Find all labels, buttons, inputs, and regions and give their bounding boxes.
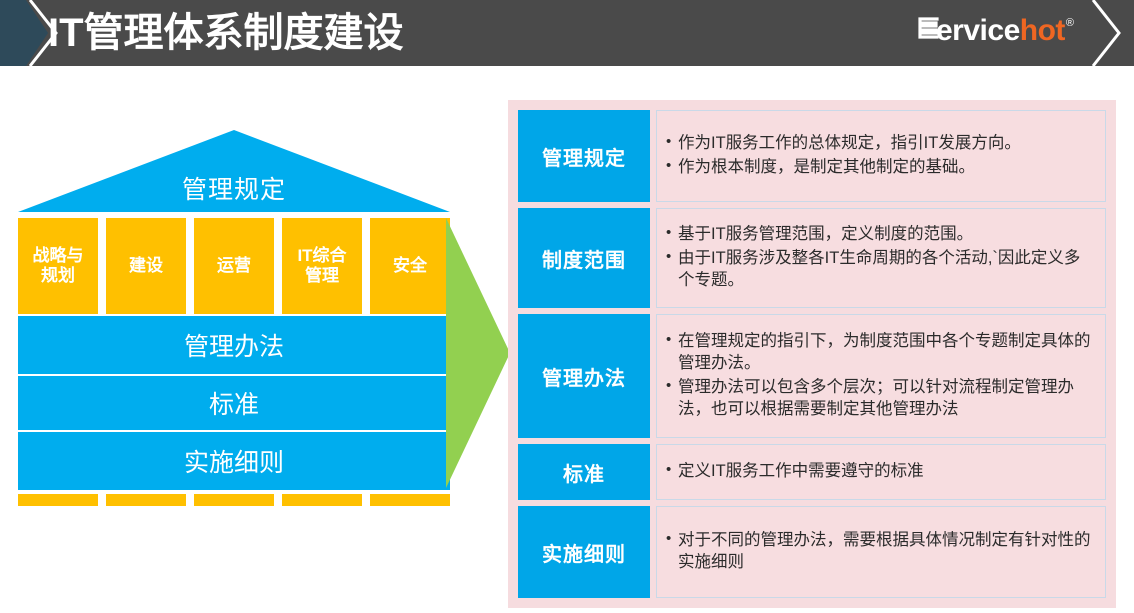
chevron-right-icon-trailing [1088, 0, 1124, 66]
house-pillar-construction[interactable]: 建设 [106, 218, 186, 314]
detail-row-label[interactable]: 管理办法 [518, 314, 650, 438]
table-row: 管理规定 作为IT服务工作的总体规定，指引IT发展方向。 作为根本制度，是制定其… [518, 110, 1106, 202]
detail-panel: 管理规定 作为IT服务工作的总体规定，指引IT发展方向。 作为根本制度，是制定其… [508, 100, 1116, 608]
list-item: 基于IT服务管理范围，定义制度的范围。 [665, 224, 1095, 246]
house-foundation-block [370, 494, 450, 506]
house-foundation-block [194, 494, 274, 506]
list-item: 定义IT服务工作中需要遵守的标准 [665, 461, 1095, 483]
list-item: 在管理规定的指引下，为制度范围中各个专题制定具体的管理办法。 [665, 331, 1095, 375]
table-row: 实施细则 对于不同的管理办法，需要根据具体情况制定有针对性的实施细则 [518, 506, 1106, 598]
house-pillar-label: 安全 [393, 256, 427, 276]
house-roof [18, 130, 450, 215]
house-pillars: 战略与规划 建设 运营 IT综合管理 安全 [18, 218, 450, 314]
house-foundation-block [18, 494, 98, 506]
list-item: 作为IT服务工作的总体规定，指引IT发展方向。 [665, 133, 1095, 155]
house-pillar-it-integrated-mgmt[interactable]: IT综合管理 [282, 218, 362, 314]
detail-row-body: 作为IT服务工作的总体规定，指引IT发展方向。 作为根本制度，是制定其他制定的基… [656, 110, 1106, 202]
house-diagram: 管理规定 战略与规划 建设 运营 IT综合管理 安全 [18, 130, 450, 500]
house-pillar-label: 战略与规划 [33, 246, 84, 285]
house-pillar-operations[interactable]: 运营 [194, 218, 274, 314]
detail-row-body: 定义IT服务工作中需要遵守的标准 [656, 444, 1106, 500]
house-band-standards[interactable]: 标准 [18, 376, 450, 432]
house-pillar-label: 建设 [129, 256, 163, 276]
slide-header: IT管理体系制度建设 ervice hot ® [0, 0, 1134, 66]
logo-trademark: ® [1066, 17, 1074, 29]
detail-row-body: 对于不同的管理办法，需要根据具体情况制定有针对性的实施细则 [656, 506, 1106, 598]
logo-primary-text: ervice [936, 14, 1020, 48]
house-pillar-strategy[interactable]: 战略与规划 [18, 218, 98, 314]
house-foundation-blocks [18, 494, 450, 506]
house-pillar-label: 运营 [217, 256, 251, 276]
house-pillar-label: IT综合管理 [297, 246, 346, 285]
table-row: 标准 定义IT服务工作中需要遵守的标准 [518, 444, 1106, 500]
house-foundation-block [282, 494, 362, 506]
detail-row-label[interactable]: 标准 [518, 444, 650, 500]
slide-canvas: IT管理体系制度建设 ervice hot ® 管理规定 [0, 0, 1134, 613]
detail-row-label[interactable]: 管理规定 [518, 110, 650, 202]
servicehot-logo: ervice hot ® [917, 14, 1074, 52]
house-band-label: 标准 [209, 385, 259, 421]
house-foundation-block [106, 494, 186, 506]
list-item: 作为根本制度，是制定其他制定的基础。 [665, 157, 1095, 179]
house-pillar-security[interactable]: 安全 [370, 218, 450, 314]
table-row: 制度范围 基于IT服务管理范围，定义制度的范围。 由于IT服务涉及整各IT生命周… [518, 208, 1106, 308]
house-band-label: 管理办法 [184, 327, 284, 363]
page-title: IT管理体系制度建设 [48, 2, 404, 66]
list-item: 由于IT服务涉及整各IT生命周期的各个活动,`因此定义多个专题。 [665, 248, 1095, 292]
logo-accent-text: hot [1020, 14, 1065, 48]
house-band-management-methods[interactable]: 管理办法 [18, 316, 450, 376]
detail-arrow-connector [444, 218, 512, 488]
detail-row-label[interactable]: 制度范围 [518, 208, 650, 308]
table-row: 管理办法 在管理规定的指引下，为制度范围中各个专题制定具体的管理办法。 管理办法… [518, 314, 1106, 438]
detail-row-label[interactable]: 实施细则 [518, 506, 650, 598]
list-item: 管理办法可以包含多个层次；可以针对流程制定管理办法，也可以根据需要制定其他管理办… [665, 377, 1095, 421]
logo-s-mark-icon [917, 17, 939, 43]
list-item: 对于不同的管理办法，需要根据具体情况制定有针对性的实施细则 [665, 530, 1095, 574]
detail-row-body: 在管理规定的指引下，为制度范围中各个专题制定具体的管理办法。 管理办法可以包含多… [656, 314, 1106, 438]
house-band-implementation-rules[interactable]: 实施细则 [18, 432, 450, 490]
detail-row-body: 基于IT服务管理范围，定义制度的范围。 由于IT服务涉及整各IT生命周期的各个活… [656, 208, 1106, 308]
house-band-label: 实施细则 [184, 443, 284, 479]
